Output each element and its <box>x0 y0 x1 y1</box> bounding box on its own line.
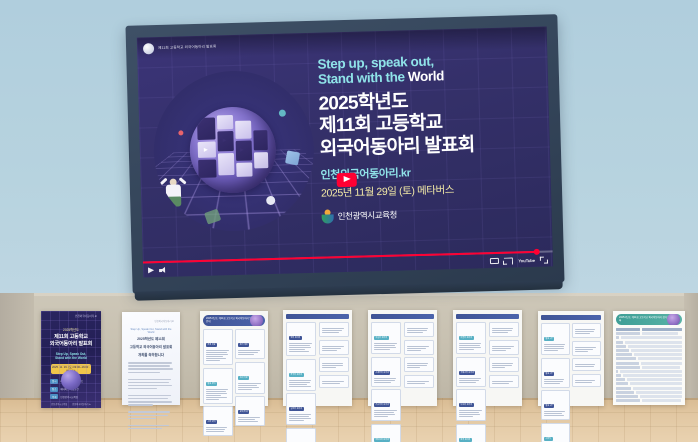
list-item: 심사 기준 <box>235 362 265 394</box>
list-item <box>404 357 434 372</box>
list-item: 문의 안내 <box>235 396 265 426</box>
list-item <box>319 375 349 388</box>
table-row <box>616 362 682 365</box>
panel-header-banner <box>286 314 349 319</box>
table-row <box>616 357 682 360</box>
video-overlay-title: 제11회 고등학교 외국어동아리 발표회 <box>158 44 216 51</box>
play-triangle-icon <box>204 148 208 152</box>
play-triangle-icon <box>223 138 227 142</box>
panel-column-left: 영어 동아리 중국어 동아리 일본어 동아리 프랑스어 동아리 <box>286 322 316 442</box>
list-item: 스페인어 동아리 <box>371 357 401 387</box>
poster-text-block: Step up, speak out, Stand with the World… <box>317 51 541 224</box>
list-item <box>319 357 349 372</box>
panel-column-right: 참가 대상 심사 기준 문의 안내 <box>235 329 265 436</box>
video-controls-right[interactable]: YouTube <box>490 256 548 265</box>
panel-footer: 인천광역시교육청 인천외국어동아리.kr <box>41 402 101 406</box>
panel-column-left: 운영 개요 발표 분야 시상 내역 <box>203 329 233 436</box>
table-row <box>616 341 682 344</box>
card-body <box>206 389 230 400</box>
list-item: 국제교류 동아리 <box>456 357 486 387</box>
virtual-exhibition-scene: 나중에 시청... 공유 제11회 고등학교 외국어동아리 발표회 <box>0 0 698 442</box>
volume-icon[interactable] <box>159 266 167 273</box>
video-display-screen[interactable]: 제11회 고등학교 외국어동아리 발표회 <box>125 14 564 294</box>
panel-header-banner <box>371 314 434 319</box>
list-item: 발표 1부 <box>541 323 570 355</box>
list-item[interactable]: 인천외국어동아리.kr 2025학년도 제11회 고등학교 외국어동아리 발표회… <box>41 311 101 408</box>
card-body <box>206 350 230 361</box>
panel-column-left: 발표 1부 발표 2부 발표 3부 시상식 <box>541 323 570 442</box>
youtube-logo-icon[interactable]: YouTube <box>518 257 535 262</box>
list-item <box>572 374 601 387</box>
list-item: 발표 분야 <box>203 368 233 404</box>
video-controls-left[interactable] <box>148 266 167 274</box>
panel-header-banner <box>456 314 519 319</box>
card-body <box>206 427 230 432</box>
table-header-row <box>616 328 682 331</box>
channel-avatar-icon[interactable] <box>143 43 154 54</box>
panel-title-line-1: 2025학년도 제11회 <box>128 337 174 342</box>
participant-table <box>616 328 682 402</box>
panel-column-right <box>572 323 601 442</box>
accent-dot <box>178 130 183 135</box>
list-item: 다문화 동아리 <box>456 389 486 421</box>
list-item <box>489 375 519 388</box>
cast-icon[interactable] <box>504 257 513 264</box>
table-row <box>616 336 682 339</box>
table-row <box>616 374 682 377</box>
video-player[interactable]: 제11회 고등학교 외국어동아리 발표회 <box>137 26 553 277</box>
list-item[interactable]: 영어 동아리 중국어 동아리 일본어 동아리 프랑스어 동아리 <box>283 310 352 406</box>
panel-title-line-2: 고등학교 외국어동아리 발표회 <box>128 345 174 350</box>
table-row <box>616 345 682 348</box>
poster-tagline: Step up, speak out, Stand with the World <box>317 51 538 87</box>
list-item: 참가 대상 <box>235 329 265 359</box>
panel-column-right <box>404 322 434 442</box>
list-item[interactable]: 인천외국어동아리.kr Step Up, Speak Out, Stand wi… <box>122 312 180 405</box>
list-item <box>572 323 601 338</box>
list-item: 시상 내역 <box>203 406 233 436</box>
panel-column-right <box>319 322 349 442</box>
wall-right-face <box>684 293 698 405</box>
list-item: 일본어 동아리 <box>286 393 316 425</box>
list-item: 아랍어 동아리 <box>456 322 486 354</box>
list-item: 중국어 동아리 <box>286 359 316 391</box>
education-office-logo-icon <box>321 209 333 223</box>
accent-dot <box>279 110 286 117</box>
table-row <box>616 349 682 352</box>
fullscreen-icon[interactable] <box>540 256 548 263</box>
list-item: 러시아어 동아리 <box>371 389 401 421</box>
list-item <box>489 357 519 372</box>
wall-left-face <box>0 293 34 405</box>
table-row <box>616 391 682 394</box>
play-triangle-icon <box>240 148 244 152</box>
list-item <box>404 340 434 355</box>
mascot-character-icon <box>250 315 263 326</box>
panel-illustration <box>51 368 91 398</box>
illustration-disc <box>152 69 316 233</box>
play-icon[interactable] <box>148 267 154 273</box>
table-row <box>616 382 682 385</box>
panel-columns: 아랍어 동아리 국제교류 동아리 다문화 동아리 통역 동아리 <box>456 322 519 442</box>
list-item <box>572 341 601 356</box>
list-item <box>489 322 519 337</box>
list-item: 발표 3부 <box>541 390 570 420</box>
panel-columns: 영어 동아리 중국어 동아리 일본어 동아리 프랑스어 동아리 <box>286 322 349 442</box>
panel-brand: 인천외국어동아리.kr <box>75 314 97 318</box>
list-item <box>404 375 434 388</box>
list-item[interactable]: 2025학년도 제11회 고등학교 외국어동아리 발표회 운영 안내 운영 개요… <box>200 311 268 406</box>
panel-kicker: Step Up, Speak Out, Stand with the World <box>128 328 174 334</box>
panel-column-left: 아랍어 동아리 국제교류 동아리 다문화 동아리 통역 동아리 <box>456 322 486 442</box>
list-item: 발표 2부 <box>541 358 570 388</box>
panel-columns: 독일어 동아리 스페인어 동아리 러시아어 동아리 베트남어 동아리 <box>371 322 434 442</box>
table-row <box>616 399 682 402</box>
list-item: 시상식 <box>541 423 570 442</box>
panel-column-left: 독일어 동아리 스페인어 동아리 러시아어 동아리 베트남어 동아리 <box>371 322 401 442</box>
list-item[interactable]: 독일어 동아리 스페인어 동아리 러시아어 동아리 베트남어 동아리 <box>368 310 437 406</box>
table-row <box>616 370 682 373</box>
list-item: 통역 동아리 <box>456 424 486 442</box>
subtitles-icon[interactable] <box>490 258 499 264</box>
floating-cube-icon <box>285 150 300 165</box>
panel-header-banner: 2025학년도 제11회 고등학교 외국어동아리 참가 동아리 목록 <box>616 314 682 325</box>
panel-column-right <box>489 322 519 442</box>
poster-illustration <box>152 69 317 243</box>
table-row <box>616 395 682 398</box>
sphere-icon <box>61 370 81 390</box>
list-item[interactable]: 2025학년도 제11회 고등학교 외국어동아리 참가 동아리 목록 <box>613 311 685 405</box>
list-item <box>404 322 434 337</box>
table-row <box>616 332 682 335</box>
table-row <box>616 366 682 369</box>
list-item: 독일어 동아리 <box>371 322 401 354</box>
panel-header-banner <box>541 315 601 320</box>
list-item <box>319 322 349 337</box>
table-row <box>616 387 682 390</box>
card-body <box>238 383 262 390</box>
poster-headline: 2025학년도 제11회 고등학교 외국어동아리 발표회 <box>318 88 540 161</box>
card-body <box>238 417 262 422</box>
panel-brand: 인천외국어동아리.kr <box>128 319 174 323</box>
list-item[interactable]: 아랍어 동아리 국제교류 동아리 다문화 동아리 통역 동아리 <box>453 310 522 406</box>
panel-columns: 운영 개요 발표 분야 시상 내역 <box>203 329 265 436</box>
mascot-character-icon <box>667 314 680 325</box>
list-item <box>319 340 349 355</box>
youtube-play-badge-icon <box>337 173 357 188</box>
table-row <box>616 378 682 381</box>
list-item: 프랑스어 동아리 <box>286 428 316 442</box>
list-item[interactable]: 발표 1부 발표 2부 발표 3부 시상식 <box>538 311 604 406</box>
list-item: 베트남어 동아리 <box>371 424 401 442</box>
person-illustration <box>161 176 188 211</box>
organizer-name: 인천광역시교육청 <box>338 208 398 222</box>
table-row <box>616 353 682 356</box>
card-body <box>238 350 262 355</box>
panel-columns: 발표 1부 발표 2부 발표 3부 시상식 <box>541 323 601 442</box>
list-item <box>489 340 519 355</box>
document-body <box>128 362 174 429</box>
list-item: 운영 개요 <box>203 329 233 365</box>
panel-header-banner: 2025학년도 제11회 고등학교 외국어동아리 발표회 운영 안내 <box>203 315 265 326</box>
list-item: 영어 동아리 <box>286 322 316 356</box>
panel-title-line-3: 개최를 축하합니다 <box>128 353 174 358</box>
list-item <box>572 358 601 371</box>
